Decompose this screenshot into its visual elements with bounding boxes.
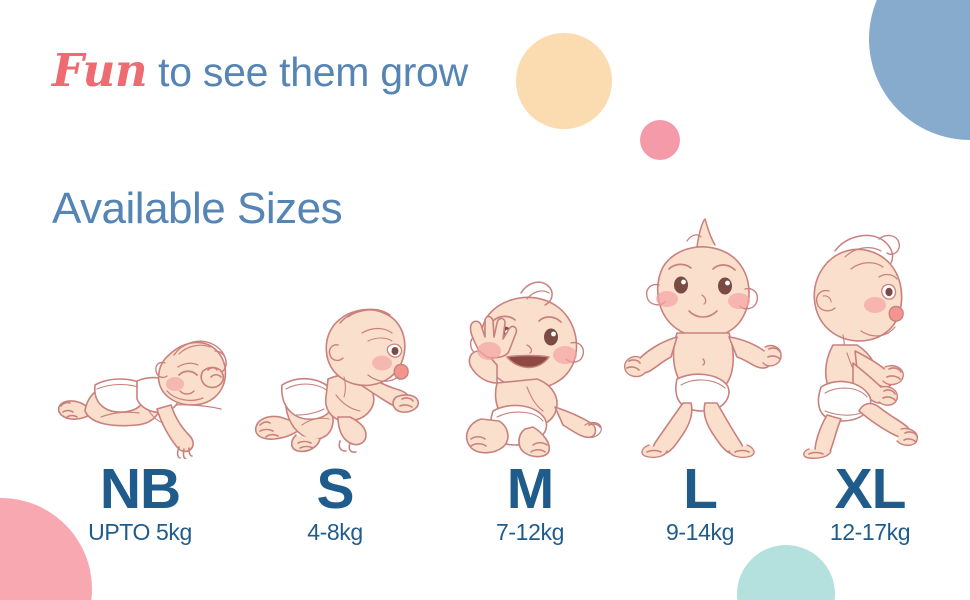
size-code-s: S: [240, 461, 430, 518]
size-code-xl: XL: [775, 461, 965, 518]
headline: Fun to see them grow: [52, 44, 468, 97]
size-weight-s: 4-8kg: [240, 520, 430, 545]
orange-circle-decoration: [516, 33, 612, 129]
headline-rest-text: to see them grow: [147, 49, 468, 95]
headline-accent-word: Fun: [52, 44, 147, 97]
size-item-m[interactable]: M 7-12kg: [435, 259, 625, 545]
size-item-xl[interactable]: XL 12-17kg: [775, 211, 965, 545]
sitting-waving-baby-illustration: [435, 259, 625, 459]
size-weight-m: 7-12kg: [435, 520, 625, 545]
size-code-l: L: [605, 461, 795, 518]
size-code-nb: NB: [45, 461, 235, 518]
size-weight-xl: 12-17kg: [775, 520, 965, 545]
size-weight-nb: UPTO 5kg: [45, 520, 235, 545]
blue-circle-decoration: [869, 0, 970, 140]
page-title: Available Sizes: [52, 184, 342, 234]
walking-toddler-illustration: [775, 211, 965, 459]
size-chart-infographic: Fun to see them grow Available Sizes: [0, 0, 970, 600]
size-code-m: M: [435, 461, 625, 518]
size-item-nb[interactable]: NB UPTO 5kg: [45, 299, 235, 545]
size-list: NB UPTO 5kg: [0, 255, 970, 545]
size-item-s[interactable]: S 4-8kg: [240, 267, 430, 545]
size-item-l[interactable]: L 9-14kg: [605, 211, 795, 545]
standing-baby-illustration: [605, 211, 795, 459]
crawling-baby-illustration: [240, 267, 430, 459]
pink-dot-circle-decoration: [640, 120, 680, 160]
size-weight-l: 9-14kg: [605, 520, 795, 545]
teal-circle-decoration: [737, 545, 835, 600]
sleeping-baby-illustration: [45, 299, 235, 459]
